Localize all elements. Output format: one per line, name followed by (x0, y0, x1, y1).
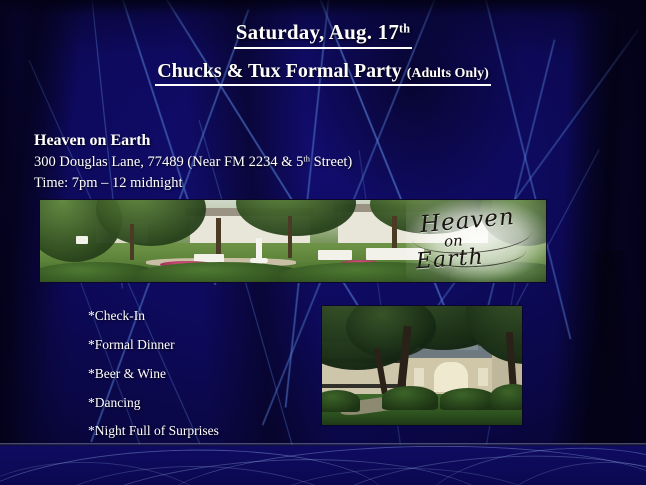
venue-photo-window-1 (414, 368, 424, 386)
title-date-text: Saturday, Aug. 17 (236, 20, 399, 44)
banner-photo: Heaven on Earth (40, 200, 546, 282)
bottom-swoosh-7 (476, 456, 646, 485)
banner-bench-2 (318, 250, 352, 260)
event-agenda-list: *Check-In *Formal Dinner *Beer & Wine *D… (88, 309, 219, 453)
bottom-swoosh-3 (159, 446, 646, 485)
bottom-swoosh-6 (418, 446, 646, 485)
venue-address-prefix: 300 Douglas Lane, 77489 (Near FM 2234 & … (34, 154, 303, 170)
title-event-main: Chucks & Tux Formal Party (157, 60, 401, 82)
venue-photo-shrub-4 (490, 384, 522, 410)
venue-photo-shrub-1 (322, 390, 360, 412)
bottom-swoosh-2 (36, 448, 513, 485)
bottom-swoosh-9 (219, 465, 582, 485)
list-item: *Beer & Wine (88, 367, 219, 382)
venue-name: Heaven on Earth (34, 130, 352, 152)
heaven-on-earth-logo: Heaven on Earth (410, 206, 538, 276)
list-item: *Formal Dinner (88, 338, 219, 353)
slide-title-date: Saturday, Aug. 17th (0, 20, 646, 49)
list-item: *Check-In (88, 309, 219, 324)
bottom-swoosh-8 (0, 457, 243, 485)
venue-photo (322, 306, 522, 425)
venue-photo-shrub-2 (382, 386, 438, 410)
venue-address-suffix: Street) (310, 154, 352, 170)
slide-title-event: Chucks & Tux Formal Party (Adults Only) (0, 60, 646, 86)
title-event-qualifier: (Adults Only) (407, 66, 489, 81)
venue-time: Time: 7pm – 12 midnight (34, 173, 352, 194)
title-date-superscript: th (399, 22, 410, 36)
bottom-swoosh-5 (9, 463, 392, 485)
banner-trunk-3 (288, 216, 292, 258)
banner-trunk-1 (130, 224, 134, 260)
presentation-slide: Saturday, Aug. 17th Chucks & Tux Formal … (0, 0, 646, 485)
venue-address: 300 Douglas Lane, 77489 (Near FM 2234 & … (34, 152, 352, 173)
banner-bench-4 (76, 236, 88, 244)
venue-photo-window-2 (478, 368, 488, 386)
venue-photo-rail-left (322, 384, 402, 388)
venue-details: Heaven on Earth 300 Douglas Lane, 77489 … (34, 130, 352, 194)
list-item: *Night Full of Surprises (88, 424, 219, 439)
bottom-swoosh-4 (298, 449, 646, 485)
list-item: *Dancing (88, 396, 219, 411)
venue-photo-shrub-3 (440, 388, 496, 410)
